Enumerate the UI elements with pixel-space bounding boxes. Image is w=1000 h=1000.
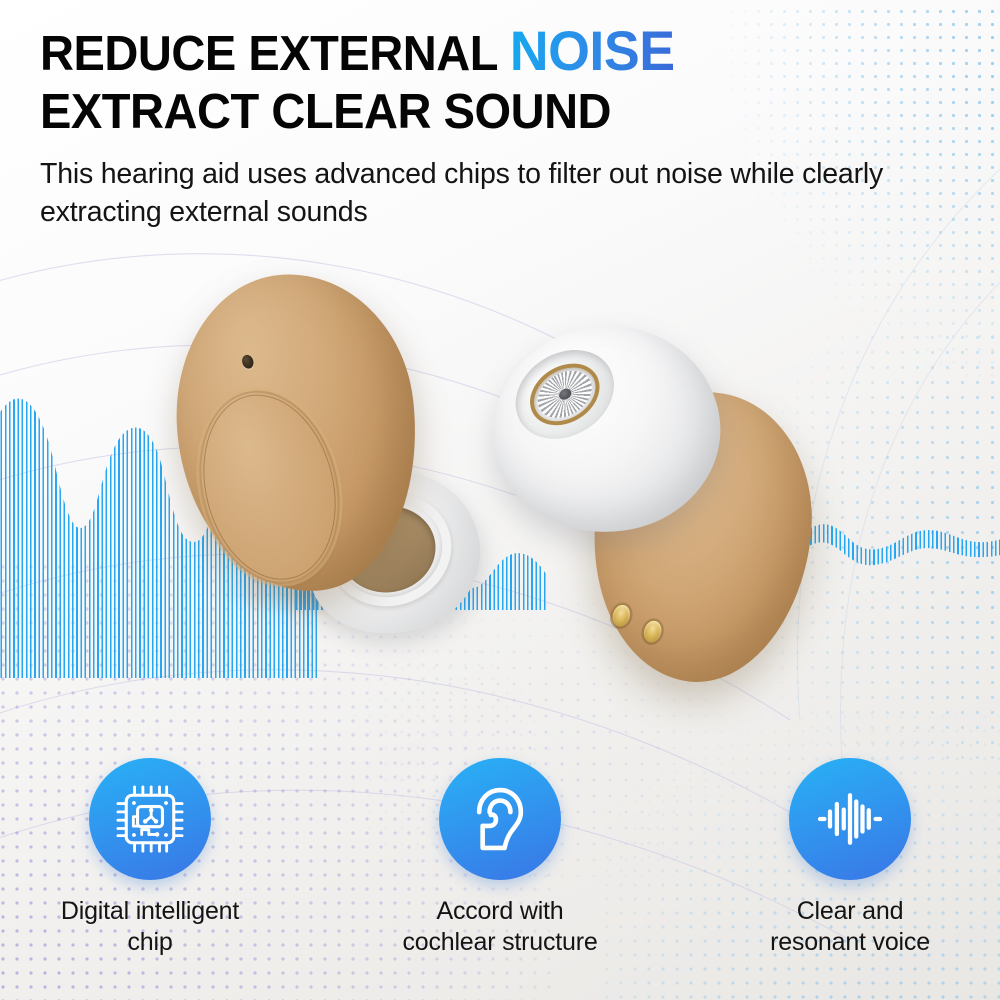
headline-line-2: EXTRACT CLEAR SOUND [40, 83, 923, 141]
feature-item-ear: Accord with cochlear structure [365, 758, 635, 958]
left-earbud-multifunction-button [180, 376, 359, 599]
feature-item-voice: Clear and resonant voice [715, 758, 985, 958]
product-feature-banner: REDUCE EXTERNAL NOISE EXTRACT CLEAR SOUN… [0, 0, 1000, 1000]
feature-row: Digital intelligent chip Accord with coc… [0, 758, 1000, 958]
feature-label: Digital intelligent chip [61, 896, 239, 958]
feature-icon-circle [439, 758, 561, 880]
headline-line-1-plain: REDUCE EXTERNAL [40, 27, 510, 81]
speaker-mesh-icon [529, 361, 600, 427]
feature-label: Accord with cochlear structure [402, 896, 597, 958]
headline-accent-word: NOISE [510, 19, 675, 82]
feature-item-chip: Digital intelligent chip [15, 758, 285, 958]
feature-icon-circle [789, 758, 911, 880]
right-earbud [486, 320, 826, 730]
charging-contact-pin [641, 619, 664, 645]
left-earbud-button-ring [185, 380, 355, 593]
chip-icon [112, 781, 188, 857]
left-earbud [170, 268, 500, 648]
sound-wave-icon [810, 779, 890, 859]
speaker-gold-ring [519, 351, 611, 438]
charging-contact-pin [610, 603, 633, 629]
feature-label: Clear and resonant voice [770, 896, 930, 958]
right-earbud-nozzle [499, 332, 631, 457]
microphone-hole-icon [240, 353, 255, 370]
speaker-center-hole [557, 387, 573, 402]
headline-line-1: REDUCE EXTERNAL NOISE [40, 22, 923, 83]
subheadline: This hearing aid uses advanced chips to … [40, 155, 940, 231]
sound-wave-graphic-right [806, 508, 1000, 578]
headline-block: REDUCE EXTERNAL NOISE EXTRACT CLEAR SOUN… [40, 22, 960, 231]
ear-icon [463, 782, 537, 856]
feature-icon-circle [89, 758, 211, 880]
